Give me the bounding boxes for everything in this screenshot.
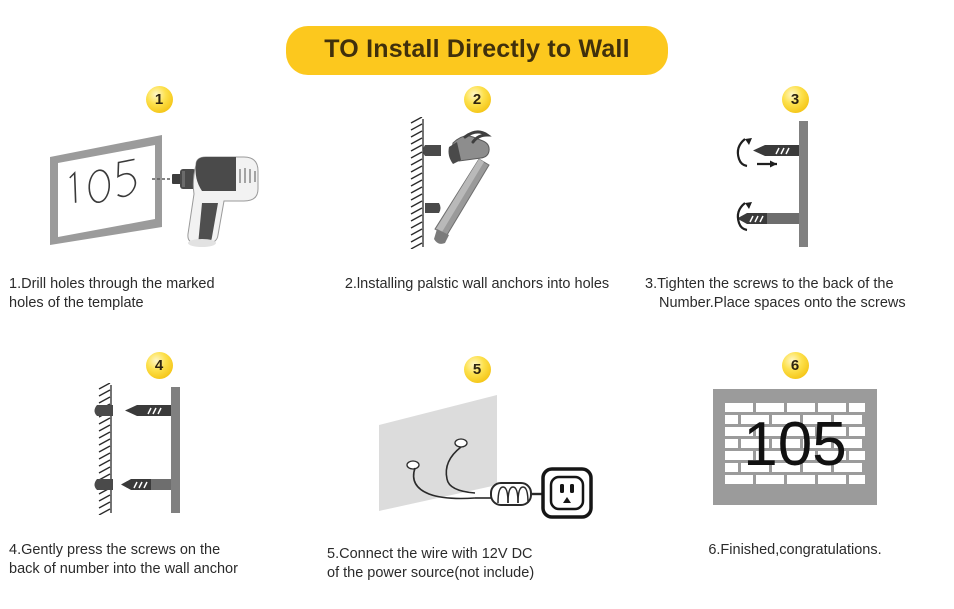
caption-line: 4.Gently press the screws on the: [9, 541, 309, 560]
step-badge-2: 2: [464, 86, 491, 113]
illustration-wire-to-outlet: [318, 387, 636, 527]
house-number-text: 105: [743, 410, 846, 479]
caption-line: of the power source(not include): [327, 564, 627, 583]
step-caption-5: 5.Connect the wire with 12V DC of the po…: [327, 545, 627, 582]
illustration-hammer-anchors: [318, 117, 636, 257]
steps-row-bottom: 4: [0, 352, 954, 582]
screw-upper: [753, 145, 799, 156]
wire-transformer-outlet-drawing: [357, 387, 597, 519]
step-caption-3: 3.Tighten the screws to the back of the …: [645, 275, 945, 312]
instruction-sheet: TO Install Directly to Wall 1: [0, 0, 954, 609]
hammer-and-wall-anchors-drawing: [367, 117, 587, 249]
step-caption-4: 4.Gently press the screws on the back of…: [9, 541, 309, 578]
screw-lower: [737, 213, 799, 224]
finished-house-number-drawing: 105: [705, 383, 885, 515]
caption-line: back of number into the wall anchor: [9, 560, 309, 579]
drill-and-template-drawing: [34, 117, 284, 249]
caption-line: 1.Drill holes through the marked: [9, 275, 309, 294]
caption-line: 2.lnstalling palstic wall anchors into h…: [327, 275, 627, 294]
step-card-4: 4: [0, 352, 318, 582]
step-card-2: 2: [318, 86, 636, 312]
step-card-5: 5: [318, 352, 636, 582]
steps-row-top: 1: [0, 86, 954, 312]
caption-line: 3.Tighten the screws to the back of the: [645, 275, 945, 294]
wall-anchor-and-number-plate-drawing: [59, 383, 259, 515]
caption-line: 6.Finished,congratulations.: [645, 541, 945, 560]
step-card-1: 1: [0, 86, 318, 312]
caption-line: 5.Connect the wire with 12V DC: [327, 545, 627, 564]
screws-into-plate-drawing: [695, 117, 895, 249]
step-card-3: 3: [636, 86, 954, 312]
illustration-finished-brick-wall: 105: [636, 383, 954, 523]
illustration-tighten-screws: [636, 117, 954, 257]
step-badge-1: 1: [146, 86, 173, 113]
title-banner-container: TO Install Directly to Wall: [0, 26, 954, 75]
caption-line: Number.Place spaces onto the screws: [645, 294, 945, 313]
caption-line: holes of the template: [9, 294, 309, 313]
step-badge-6: 6: [782, 352, 809, 379]
step-caption-2: 2.lnstalling palstic wall anchors into h…: [327, 275, 627, 294]
step-card-6: 6: [636, 352, 954, 582]
title-banner: TO Install Directly to Wall: [286, 26, 667, 75]
step-caption-6: 6.Finished,congratulations.: [645, 541, 945, 560]
step-badge-3: 3: [782, 86, 809, 113]
step-caption-1: 1.Drill holes through the marked holes o…: [9, 275, 309, 312]
step-badge-5: 5: [464, 356, 491, 383]
illustration-press-into-anchor: [0, 383, 318, 523]
step-badge-4: 4: [146, 352, 173, 379]
illustration-drill-template: [0, 117, 318, 257]
